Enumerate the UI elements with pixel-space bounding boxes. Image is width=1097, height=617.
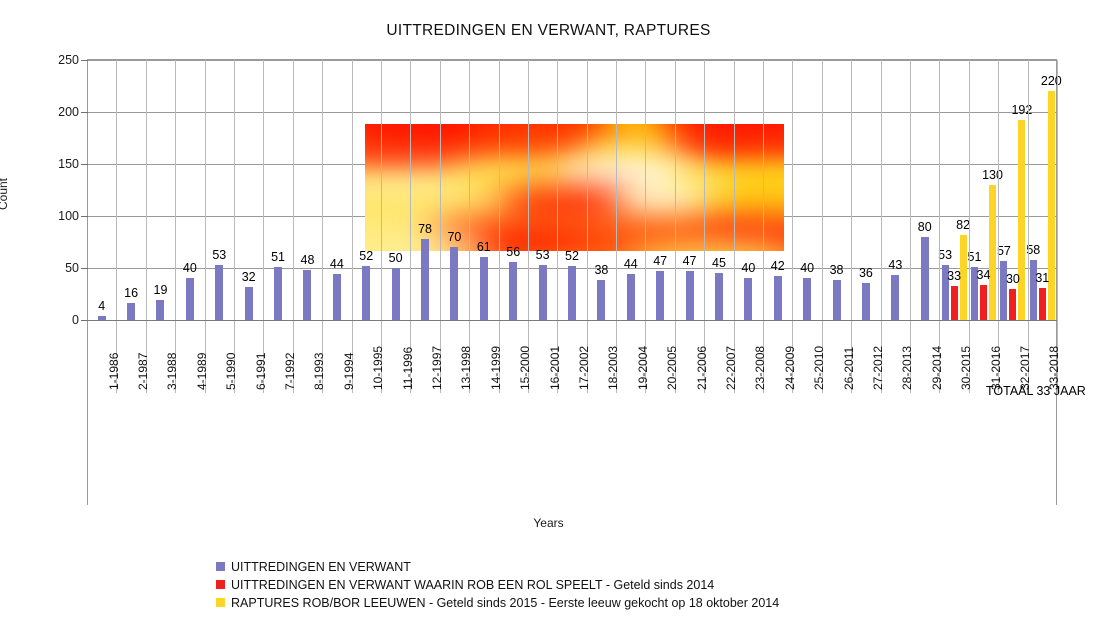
- category-separator: [851, 60, 852, 393]
- x-tick-label-22-2007: 22-2007: [724, 346, 738, 390]
- bar-17-2002-series1: [568, 266, 576, 320]
- bar-33-2018-series3: [1048, 91, 1055, 320]
- category-separator: [616, 60, 617, 393]
- category-separator: [645, 60, 646, 393]
- category-separator: [881, 60, 882, 393]
- category-separator: [234, 60, 235, 393]
- bar-value-label: 80: [918, 220, 932, 234]
- category-separator: [352, 60, 353, 393]
- y-tick-label-200: 200: [33, 105, 79, 119]
- bar-value-label: 61: [477, 240, 491, 254]
- legend-item-3: RAPTURES ROB/BOR LEEUWEN - Geteld sinds …: [216, 594, 779, 611]
- y-axis-title: Count: [0, 178, 10, 210]
- bar-23-2008-series1: [744, 278, 752, 320]
- bar-value-label: 44: [330, 257, 344, 271]
- x-tick-label-23-2008: 23-2008: [753, 346, 767, 390]
- bar-value-label: 43: [888, 258, 902, 272]
- category-separator: [704, 60, 705, 393]
- category-separator: [469, 60, 470, 393]
- bar-value-label: 45: [712, 256, 726, 270]
- bar-27-2012-series1: [862, 283, 870, 320]
- x-tick-label-17-2002: 17-2002: [577, 346, 591, 390]
- bar-6-1991-series1: [245, 287, 253, 320]
- category-separator: [146, 60, 147, 393]
- bar-12-1997-series1: [421, 239, 429, 320]
- x-tick-label-13-1998: 13-1998: [459, 346, 473, 390]
- y-tick-mark-200: [81, 112, 88, 113]
- x-tick-label-24-2009: 24-2009: [783, 346, 797, 390]
- x-tick-label-10-1995: 10-1995: [371, 346, 385, 390]
- bar-16-2001-series1: [539, 265, 547, 320]
- bar-19-2004-series1: [627, 274, 635, 320]
- chart-legend: UITTREDINGEN EN VERWANTUITTREDINGEN EN V…: [216, 558, 779, 612]
- legend-label: UITTREDINGEN EN VERWANT: [231, 560, 411, 574]
- bar-value-label: 30: [1006, 272, 1020, 286]
- legend-swatch-icon: [216, 580, 225, 589]
- y-tick-mark-250: [81, 60, 88, 61]
- bar-chart-figure: UITTREDINGEN EN VERWANT, RAPTURES 050100…: [0, 0, 1097, 617]
- bar-value-label: 40: [800, 261, 814, 275]
- bar-10-1995-series1: [362, 266, 370, 320]
- bar-value-label: 38: [594, 263, 608, 277]
- category-separator: [939, 60, 940, 393]
- legend-label: RAPTURES ROB/BOR LEEUWEN - Geteld sinds …: [231, 596, 779, 610]
- bar-value-label: 52: [565, 249, 579, 263]
- bar-29-2014-series1: [921, 237, 929, 320]
- legend-item-2: UITTREDINGEN EN VERWANT WAARIN ROB EEN R…: [216, 576, 779, 593]
- legend-label: UITTREDINGEN EN VERWANT WAARIN ROB EEN R…: [231, 578, 714, 592]
- y-tick-label-250: 250: [33, 53, 79, 67]
- bar-value-label: 47: [683, 254, 697, 268]
- bar-value-label: 40: [183, 261, 197, 275]
- bar-value-label: 82: [956, 218, 970, 232]
- category-separator: [910, 60, 911, 393]
- bar-value-label: 220: [1041, 74, 1062, 88]
- bar-31-2016-series2: [980, 285, 987, 320]
- bar-28-2013-series1: [891, 275, 899, 320]
- bar-value-label: 192: [1011, 103, 1032, 117]
- total-years-annotation: TOTAAL 33 JAAR: [986, 384, 1086, 398]
- x-tick-label-11-1996: 11-1996: [401, 347, 415, 390]
- x-tick-label-9-1994: 9-1994: [342, 353, 356, 390]
- x-tick-label-26-2011: 26-2011: [842, 347, 856, 390]
- bar-31-2016-series3: [989, 185, 996, 320]
- bar-32-2017-series3: [1018, 120, 1025, 320]
- x-tick-label-4-1989: 4-1989: [195, 353, 209, 390]
- bar-value-label: 40: [741, 261, 755, 275]
- x-tick-label-25-2010: 25-2010: [812, 346, 826, 390]
- bar-value-label: 51: [271, 250, 285, 264]
- y-tick-label-150: 150: [33, 157, 79, 171]
- legend-item-1: UITTREDINGEN EN VERWANT: [216, 558, 779, 575]
- bar-value-label: 52: [359, 249, 373, 263]
- bar-25-2010-series1: [803, 278, 811, 320]
- y-tick-mark-150: [81, 164, 88, 165]
- x-tick-label-30-2015: 30-2015: [959, 346, 973, 390]
- bar-value-label: 32: [242, 270, 256, 284]
- bar-18-2003-series1: [597, 280, 605, 320]
- x-tick-label-5-1990: 5-1990: [224, 353, 238, 390]
- category-separator: [175, 60, 176, 393]
- x-tick-label-2-1987: 2-1987: [136, 353, 150, 390]
- bar-value-label: 53: [212, 248, 226, 262]
- x-tick-label-14-1999: 14-1999: [489, 346, 503, 390]
- x-tick-label-20-2005: 20-2005: [665, 346, 679, 390]
- x-tick-label-19-2004: 19-2004: [636, 346, 650, 390]
- gridline-200: [87, 112, 1057, 113]
- x-axis-title: Years: [0, 516, 1097, 530]
- bar-value-label: 19: [154, 283, 168, 297]
- category-separator: [792, 60, 793, 393]
- bar-33-2018-series1: [1030, 260, 1037, 320]
- x-tick-label-18-2003: 18-2003: [606, 346, 620, 390]
- bar-value-label: 34: [977, 268, 991, 282]
- x-axis-baseline: [87, 320, 1057, 321]
- bar-value-label: 57: [997, 244, 1011, 258]
- chart-title: UITTREDINGEN EN VERWANT, RAPTURES: [0, 22, 1097, 40]
- category-separator: [499, 60, 500, 393]
- x-tick-label-7-1992: 7-1992: [283, 353, 297, 390]
- bar-4-1989-series1: [186, 278, 194, 320]
- category-separator: [969, 60, 970, 393]
- bar-33-2018-series2: [1039, 288, 1046, 320]
- bar-9-1994-series1: [333, 274, 341, 320]
- category-separator: [410, 60, 411, 393]
- bar-3-1988-series1: [156, 300, 164, 320]
- legend-swatch-icon: [216, 562, 225, 571]
- bar-value-label: 53: [938, 248, 952, 262]
- legend-swatch-icon: [216, 598, 225, 607]
- category-separator: [587, 60, 588, 393]
- x-tick-label-29-2014: 29-2014: [930, 346, 944, 390]
- bar-32-2017-series2: [1009, 289, 1016, 320]
- y-tick-mark-50: [81, 268, 88, 269]
- bar-value-label: 38: [830, 263, 844, 277]
- bar-value-label: 31: [1035, 271, 1049, 285]
- bar-value-label: 44: [624, 257, 638, 271]
- bar-value-label: 53: [536, 248, 550, 262]
- bar-value-label: 36: [859, 266, 873, 280]
- category-separator: [675, 60, 676, 393]
- x-tick-label-12-1997: 12-1997: [430, 346, 444, 390]
- bar-value-label: 56: [506, 245, 520, 259]
- x-tick-label-8-1993: 8-1993: [312, 353, 326, 390]
- bar-11-1996-series1: [392, 268, 400, 320]
- category-separator: [1057, 60, 1058, 393]
- bar-5-1990-series1: [215, 265, 223, 320]
- bar-2-1987-series1: [127, 303, 135, 320]
- bar-20-2005-series1: [656, 271, 664, 320]
- y-tick-mark-100: [81, 216, 88, 217]
- category-separator: [998, 60, 999, 393]
- x-tick-label-15-2000: 15-2000: [518, 346, 532, 390]
- bar-value-label: 78: [418, 222, 432, 236]
- bar-value-label: 70: [447, 230, 461, 244]
- bar-14-1999-series1: [480, 257, 488, 320]
- category-separator: [116, 60, 117, 393]
- bar-value-label: 33: [947, 269, 961, 283]
- bar-7-1992-series1: [274, 267, 282, 320]
- bar-24-2009-series1: [774, 276, 782, 320]
- category-separator: [205, 60, 206, 393]
- category-separator: [440, 60, 441, 393]
- bar-32-2017-series1: [1000, 261, 1007, 320]
- bar-30-2015-series2: [951, 286, 958, 320]
- bar-value-label: 16: [124, 286, 138, 300]
- category-separator: [1028, 60, 1029, 393]
- bar-26-2011-series1: [833, 280, 841, 320]
- bar-22-2007-series1: [715, 273, 723, 320]
- x-tick-label-3-1988: 3-1988: [165, 353, 179, 390]
- bar-8-1993-series1: [303, 270, 311, 320]
- y-tick-label-100: 100: [33, 209, 79, 223]
- x-tick-label-28-2013: 28-2013: [900, 346, 914, 390]
- x-tick-label-1-1986: 1-1986: [107, 353, 121, 390]
- x-tick-label-27-2012: 27-2012: [871, 346, 885, 390]
- category-separator: [322, 60, 323, 393]
- category-separator: [263, 60, 264, 393]
- category-separator: [822, 60, 823, 393]
- y-tick-label-50: 50: [33, 261, 79, 275]
- category-separator: [293, 60, 294, 393]
- bar-21-2006-series1: [686, 271, 694, 320]
- category-separator: [528, 60, 529, 393]
- category-separator: [763, 60, 764, 393]
- bar-value-label: 4: [98, 299, 105, 313]
- bar-value-label: 42: [771, 259, 785, 273]
- x-tick-label-16-2001: 16-2001: [548, 346, 562, 390]
- category-separator: [557, 60, 558, 393]
- bar-13-1998-series1: [450, 247, 458, 320]
- x-tick-label-6-1991: 6-1991: [254, 353, 268, 390]
- x-tick-label-21-2006: 21-2006: [695, 346, 709, 390]
- bar-value-label: 47: [653, 254, 667, 268]
- bar-value-label: 50: [389, 251, 403, 265]
- bar-15-2000-series1: [509, 262, 517, 320]
- bar-value-label: 130: [982, 168, 1003, 182]
- category-separator: [734, 60, 735, 393]
- bar-value-label: 48: [301, 253, 315, 267]
- category-separator: [381, 60, 382, 393]
- y-tick-label-0: 0: [33, 313, 79, 327]
